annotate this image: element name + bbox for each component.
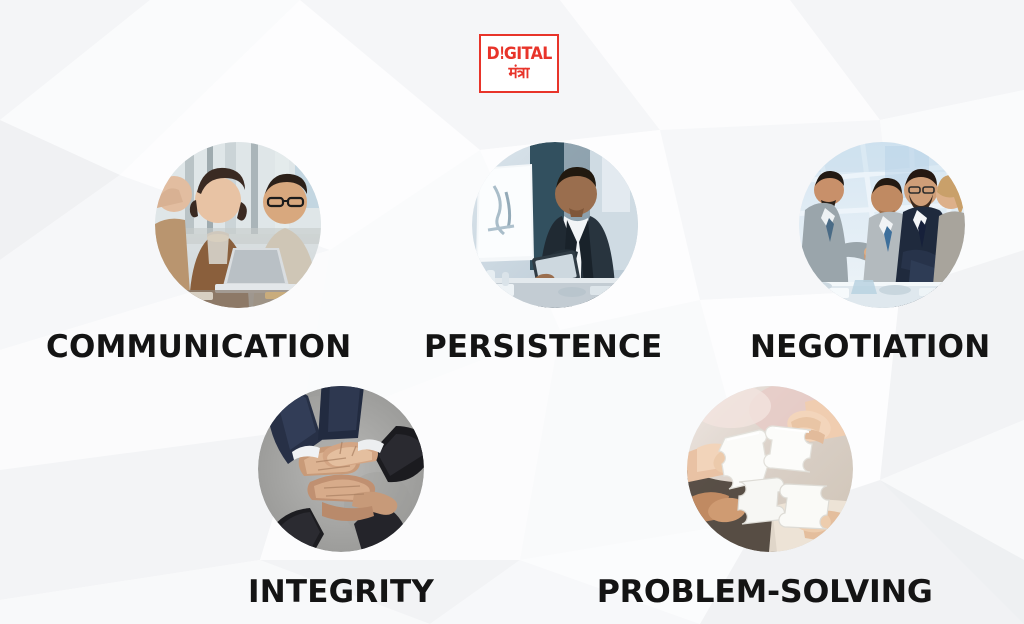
logo-wordmark-prefix: D	[486, 44, 499, 64]
skill-item-problem-solving: PROBLEM-SOLVING	[600, 386, 929, 608]
skill-item-communication: COMMUNICATION	[46, 142, 351, 363]
logo-wordmark-suffix: GITAL	[504, 44, 552, 64]
infographic-canvas: D!GITAL मंत्रा	[0, 0, 1024, 624]
skill-label-negotiation: NEGOTIATION	[750, 332, 990, 363]
logo-exclamation-icon: !	[499, 46, 504, 63]
skill-item-negotiation: NEGOTIATION	[750, 142, 990, 363]
stacked-hands-teamwork-photo	[258, 386, 424, 552]
logo-subtitle: मंत्रा	[509, 65, 529, 81]
integrity-photo	[258, 386, 424, 552]
skill-label-problem-solving: PROBLEM-SOLVING	[597, 577, 933, 608]
skill-item-persistence: PERSISTENCE	[424, 142, 662, 363]
negotiation-photo	[799, 142, 965, 308]
team-collaborating-with-laptop-photo	[155, 142, 321, 308]
business-handshake-meeting-photo	[799, 142, 965, 308]
skill-label-communication: COMMUNICATION	[46, 332, 351, 363]
brand-logo: D!GITAL मंत्रा	[479, 34, 559, 93]
communication-photo	[155, 142, 321, 308]
man-with-tablet-at-whiteboard-photo	[472, 142, 638, 308]
problem-solving-photo	[687, 386, 853, 552]
hands-joining-puzzle-pieces-photo	[687, 386, 853, 552]
logo-wordmark: D!GITAL	[486, 46, 551, 63]
skill-label-persistence: PERSISTENCE	[424, 332, 662, 363]
skill-item-integrity: INTEGRITY	[248, 386, 434, 608]
skill-label-integrity: INTEGRITY	[248, 577, 434, 608]
persistence-photo	[472, 142, 638, 308]
